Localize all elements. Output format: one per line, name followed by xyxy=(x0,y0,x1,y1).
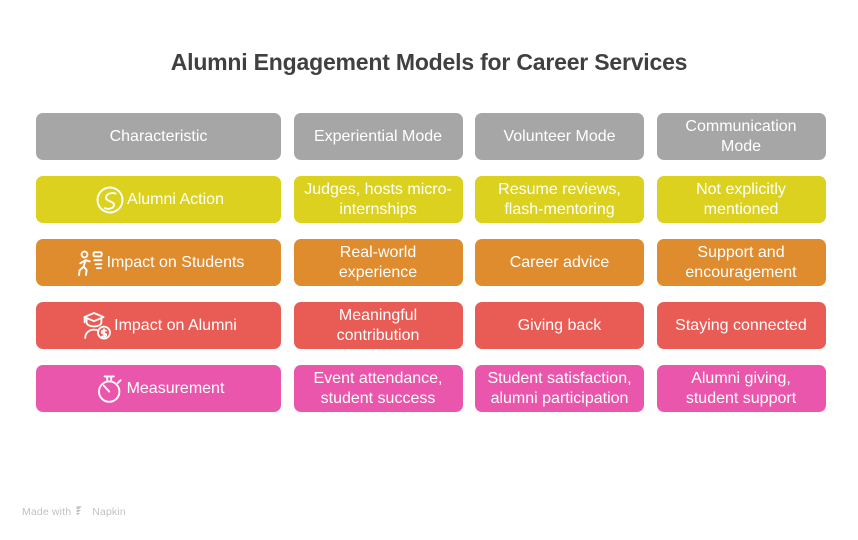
table-cell-impact-alumni-volunteer: Giving back xyxy=(475,302,644,349)
table-header-volunteer-mode: Volunteer Mode xyxy=(475,113,644,160)
table-row-label-impact-on-students: Impact on Students xyxy=(36,239,281,286)
table-cell-alumni-action-experiential: Judges, hosts micro-internships xyxy=(294,176,463,223)
graduate-with-coin-icon xyxy=(80,309,114,343)
diagram-page: Alumni Engagement Models for Career Serv… xyxy=(0,0,858,540)
table-header-experiential-mode: Experiential Mode xyxy=(294,113,463,160)
table-cell-measurement-experiential: Event attendance, student success xyxy=(294,365,463,412)
table-header-characteristic: Characteristic xyxy=(36,113,281,160)
footer-brand-text: Napkin xyxy=(92,506,126,518)
table-cell-impact-students-volunteer: Career advice xyxy=(475,239,644,286)
table-row-label-alumni-action: Alumni Action xyxy=(36,176,281,223)
footer-prefix-text: Made with xyxy=(22,506,71,518)
row-label-text: Measurement xyxy=(127,379,225,399)
table-cell-impact-students-communication: Support and encouragement xyxy=(657,239,826,286)
swirl-circle-icon xyxy=(93,183,127,217)
table-cell-alumni-action-communication: Not explicitly mentioned xyxy=(657,176,826,223)
page-title: Alumni Engagement Models for Career Serv… xyxy=(0,49,858,76)
row-label-text: Alumni Action xyxy=(127,190,224,210)
row-label-text: Impact on Alumni xyxy=(114,316,237,336)
table-cell-alumni-action-volunteer: Resume reviews, flash-mentoring xyxy=(475,176,644,223)
table-header-communication-mode: Communication Mode xyxy=(657,113,826,160)
table-cell-impact-students-experiential: Real-world experience xyxy=(294,239,463,286)
napkin-logo-icon xyxy=(76,505,87,519)
running-person-icon xyxy=(73,246,107,280)
table-cell-impact-alumni-experiential: Meaningful contribution xyxy=(294,302,463,349)
table-cell-measurement-communication: Alumni giving, student support xyxy=(657,365,826,412)
table-row-label-impact-on-alumni: Impact on Alumni xyxy=(36,302,281,349)
made-with-napkin-footer[interactable]: Made with Napkin xyxy=(22,505,126,519)
row-label-text: Impact on Students xyxy=(107,253,245,273)
table-cell-impact-alumni-communication: Staying connected xyxy=(657,302,826,349)
table-cell-measurement-volunteer: Student satisfaction, alumni participati… xyxy=(475,365,644,412)
comparison-table: Characteristic Experiential Mode Volunte… xyxy=(36,113,822,412)
table-row-label-measurement: Measurement xyxy=(36,365,281,412)
stopwatch-icon xyxy=(93,372,127,406)
